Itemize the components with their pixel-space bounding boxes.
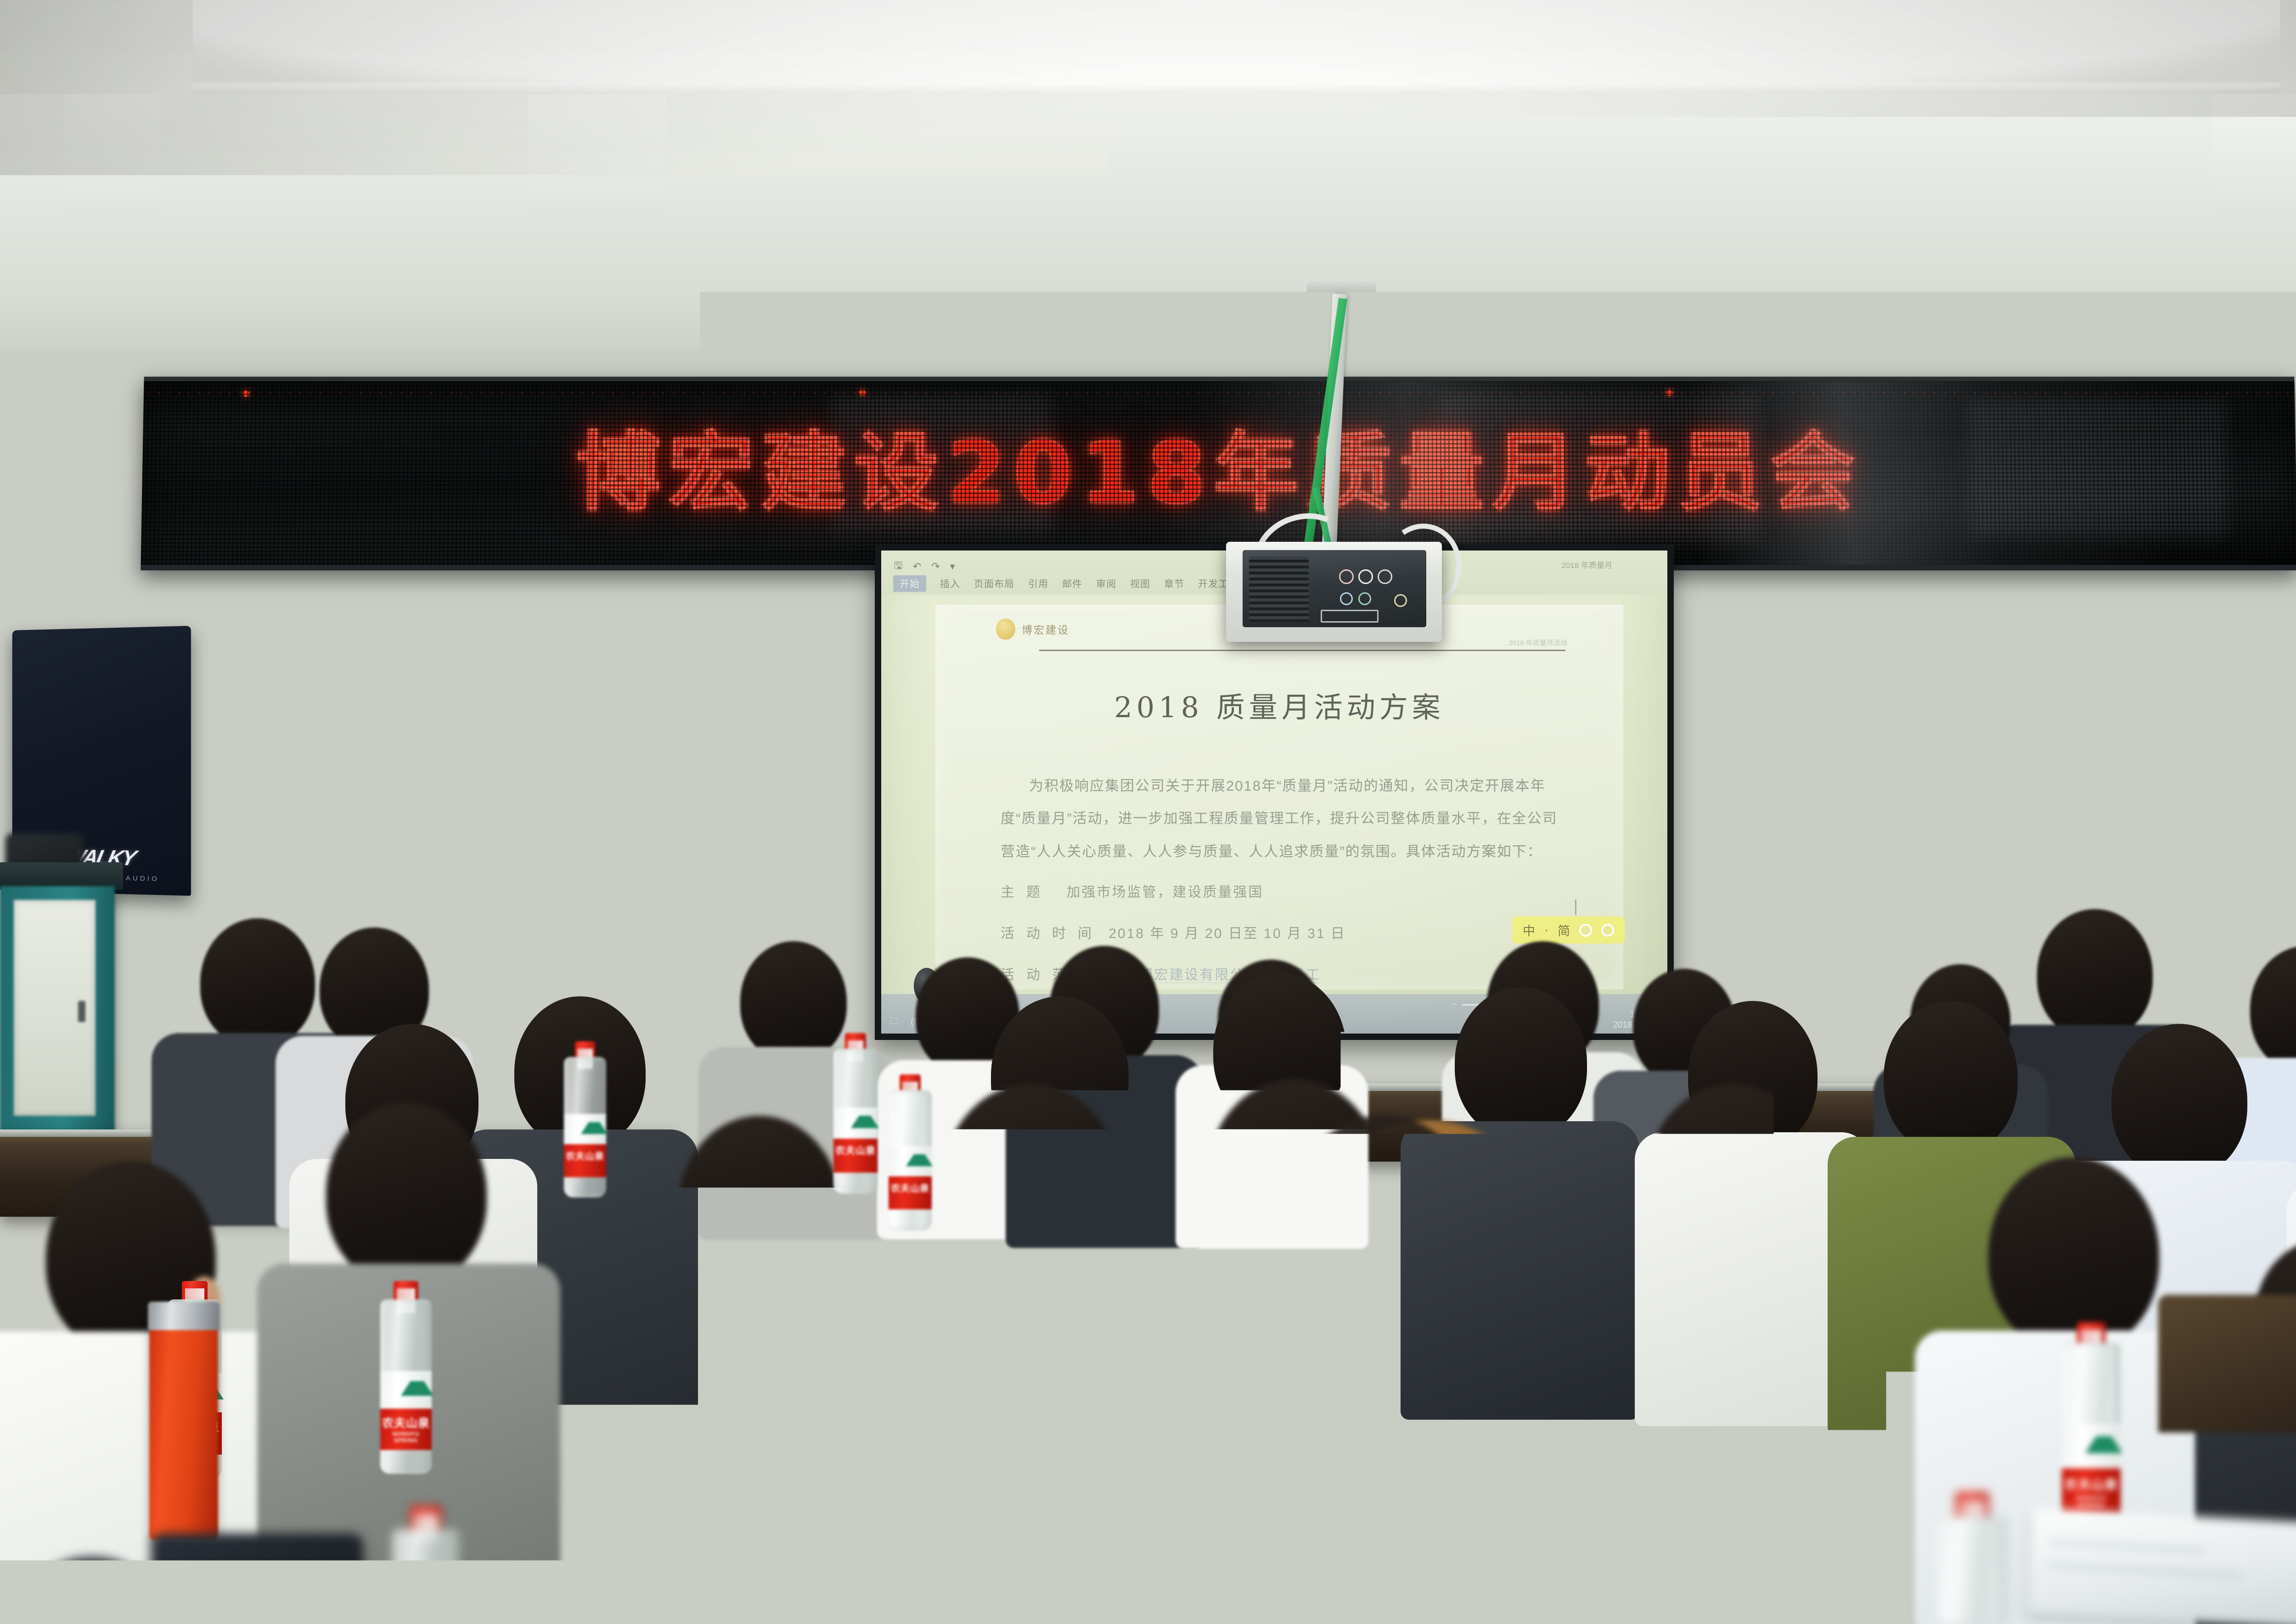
led-dot-right xyxy=(1666,389,1673,396)
bottle9-brand-cn: 农夫山泉 xyxy=(2062,1475,2121,1493)
poster-sunflower-1 xyxy=(1886,852,1907,872)
tab-ref[interactable]: 引用 xyxy=(1028,577,1048,590)
line-value-time: 2018 年 9 月 20 日至 10 月 31 日 xyxy=(1109,926,1346,941)
ribbon-header-date: 2018 年质量月 xyxy=(1561,559,1612,570)
water-bottle-4[interactable]: 农夫山泉 xyxy=(833,1033,878,1194)
bottle2-brand-cn: 农夫山泉 xyxy=(380,1414,432,1431)
tab-review[interactable]: 审阅 xyxy=(1096,577,1116,590)
projector-vga-port xyxy=(1321,610,1379,623)
water-bottle-7[interactable]: 农夫山泉 NONGFU SPRING xyxy=(877,1286,932,1488)
tab-view[interactable]: 视图 xyxy=(1130,577,1150,590)
ceiling-projector xyxy=(1226,542,1442,642)
tab-layout[interactable]: 页面布局 xyxy=(974,577,1014,590)
bottle4-brand-cn: 农夫山泉 xyxy=(833,1143,878,1157)
ime-dot-icon: · xyxy=(1544,923,1548,937)
presenter-shirt-button-2 xyxy=(497,891,507,901)
document-header-note: 2018 年质量月活动 xyxy=(1508,638,1567,647)
projector-port-white xyxy=(1358,569,1373,584)
bottle8-brand-en: NONGFU SPRING xyxy=(1791,1291,1840,1304)
equipment-cabinet-top xyxy=(0,862,123,890)
tab-section[interactable]: 章节 xyxy=(1164,577,1184,590)
water-bottle-10[interactable] xyxy=(1938,1492,2007,1624)
soffit-notch-left xyxy=(64,94,161,223)
conference-room-photo: 博宏建设2018年质量月动员会 🖫 ↶ ↷ ▾ 2018 年质量月 开始 插入 … xyxy=(0,0,2296,1624)
save-icon[interactable]: 🖫 xyxy=(894,558,903,575)
glasses-bridge xyxy=(499,687,512,689)
water-bottle-8[interactable]: 农夫山泉 NONGFU SPRING xyxy=(1791,1148,1840,1332)
bottle6-brand-en: NONGFU SPRING xyxy=(1396,1490,1447,1503)
led-banner-text: 博宏建设2018年质量月动员会 xyxy=(141,430,2296,516)
undo-icon[interactable]: ↶ xyxy=(913,561,921,573)
projector-body xyxy=(1243,550,1426,627)
bottle2-brand-en: NONGFU SPRING xyxy=(380,1431,432,1444)
glasses-lens-right xyxy=(508,680,546,701)
text-cursor xyxy=(1575,899,1576,915)
led-dot-mid xyxy=(859,389,866,396)
foreground-object-left xyxy=(41,1557,142,1616)
thermos-lid[interactable] xyxy=(148,1302,219,1330)
poster-sunflower-3 xyxy=(1929,856,1944,871)
redo-icon[interactable]: ↷ xyxy=(931,561,940,573)
bottle7-brand-cn: 农夫山泉 xyxy=(877,1426,932,1443)
tab-mail[interactable]: 邮件 xyxy=(1062,577,1082,590)
company-logo-icon xyxy=(996,618,1015,640)
bottle6-brand-cn: 农夫山泉 xyxy=(1396,1474,1447,1490)
soffit-face xyxy=(0,294,2296,390)
led-banner: 博宏建设2018年质量月动员会 xyxy=(141,376,2296,570)
document-line-theme: 主题 加强市场监管，建设质量强国 xyxy=(1001,876,1558,909)
line-value-theme: 加强市场监管，建设质量强国 xyxy=(1066,885,1263,900)
poster-sunflower-4 xyxy=(1987,842,2001,856)
tab-home[interactable]: 开始 xyxy=(893,575,926,592)
equipment-cabinet xyxy=(0,886,115,1143)
ime-mode-label[interactable]: 中 xyxy=(1523,921,1535,939)
line-label-theme: 主题 xyxy=(1001,876,1061,909)
soffit-notch-right xyxy=(2213,94,2296,223)
tab-insert[interactable]: 插入 xyxy=(940,577,960,590)
chevron-down-icon[interactable]: ▾ xyxy=(950,561,955,573)
projector-port-blue xyxy=(1340,592,1353,605)
poster-children xyxy=(2074,822,2138,872)
bottle9-brand-en: NONGFU SPRING xyxy=(2062,1494,2121,1509)
projector-vent-grill xyxy=(1249,556,1309,622)
presenter-hair-front xyxy=(446,608,559,685)
presenter-shirt-button-1 xyxy=(497,840,507,850)
water-bottle-11[interactable] xyxy=(393,1506,459,1624)
ceiling-vent-center xyxy=(1070,294,1109,302)
cabinet-handle[interactable] xyxy=(78,1001,85,1022)
red-thermos[interactable] xyxy=(149,1302,218,1540)
foreground-notebook xyxy=(1624,1520,1866,1624)
projector-port-audio xyxy=(1394,594,1407,607)
ime-simplified-icon[interactable]: 简 xyxy=(1558,921,1570,939)
ime-toggle-icon[interactable] xyxy=(1579,924,1592,937)
ceiling-vent-left xyxy=(216,354,271,364)
ime-toolbar[interactable]: 中 · 简 xyxy=(1512,916,1625,944)
led-indicator-row xyxy=(144,389,2295,397)
projector-port-yellow xyxy=(1378,569,1392,584)
presenter-glasses xyxy=(465,680,546,696)
poster-line-1: 净化社会文化环境 xyxy=(1900,711,2143,752)
bottle7-brand-en: NONGFU SPRING xyxy=(877,1444,932,1457)
document-paragraph: 为积极响应集团公司关于开展2018年“质量月”活动的通知，公司决定开展本年度“质… xyxy=(1001,770,1558,868)
bottle3-brand-cn: 农夫山泉 xyxy=(564,1149,606,1162)
bottle5-brand-cn: 农夫山泉 xyxy=(889,1181,932,1194)
dark-thermos[interactable] xyxy=(1593,1400,1636,1534)
chair-back-2 xyxy=(1015,1511,1217,1624)
water-bottle-3[interactable]: 农夫山泉 xyxy=(564,1041,606,1197)
document-title: 2018 质量月活动方案 xyxy=(975,684,1584,725)
projector-port-green xyxy=(1358,592,1371,605)
foreground-bag xyxy=(152,1534,363,1624)
poster-sunflower-2 xyxy=(1908,860,1928,877)
company-logo-name: 博宏建设 xyxy=(1022,621,1069,637)
handheld-microphone-head[interactable] xyxy=(605,926,639,970)
ceiling-vent-right xyxy=(2053,358,2108,368)
chair-back-3 xyxy=(2158,1295,2296,1433)
ribbon-tabs[interactable]: 开始 插入 页面布局 引用 邮件 审阅 视图 章节 开发工具 xyxy=(893,575,1238,592)
chair-back-1 xyxy=(670,1483,909,1624)
soffit-notch-mid xyxy=(528,94,666,223)
glasses-lens-left xyxy=(465,680,503,701)
water-bottle-2[interactable]: 农夫山泉 NONGFU SPRING xyxy=(380,1281,432,1474)
wall-poster: 净化社会文化环境 呵护未成年人心灵 xyxy=(1883,647,2163,877)
quick-access-toolbar[interactable]: 🖫 ↶ ↷ ▾ xyxy=(894,558,955,575)
water-bottle-5[interactable]: 农夫山泉 xyxy=(889,1074,932,1231)
foreground-open-document xyxy=(2027,1508,2296,1624)
water-bottle-6[interactable]: 农夫山泉 NONGFU SPRING xyxy=(1396,1341,1447,1534)
bottle8-brand-cn: 农夫山泉 xyxy=(1791,1276,1840,1292)
projector-port-red xyxy=(1339,569,1354,584)
ime-settings-icon[interactable] xyxy=(1601,924,1614,937)
document-header-rule: 2018 年质量月活动 xyxy=(1039,650,1565,651)
